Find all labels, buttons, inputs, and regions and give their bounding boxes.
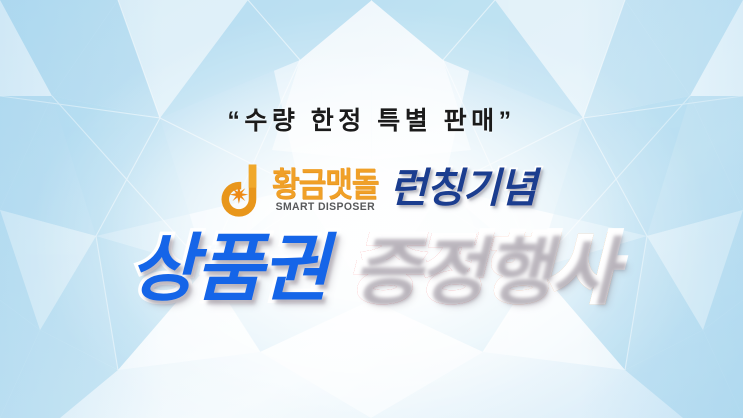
banner-content: “수량 한정 특별 판매” 황금맷돌 SMART DISPOSER xyxy=(0,0,743,418)
tagline: “수량 한정 특별 판매” xyxy=(0,101,743,137)
launch-commemoration-label: 런칭기념 xyxy=(389,168,536,209)
headline-giveaway-event: 증정행사 xyxy=(349,232,613,306)
headline: 상품권 증정행사 xyxy=(0,232,743,306)
brand-wordmark: 황금맷돌 SMART DISPOSER xyxy=(272,171,378,213)
brand-name-korean: 황금맷돌 xyxy=(272,169,378,203)
brand-logo-lockup: 황금맷돌 SMART DISPOSER xyxy=(207,161,378,219)
promotional-banner: “수량 한정 특별 판매” 황금맷돌 SMART DISPOSER xyxy=(0,0,743,418)
brand-name-english: SMART DISPOSER xyxy=(275,202,374,213)
brand-row: 황금맷돌 SMART DISPOSER 런칭기념 xyxy=(0,152,743,228)
golden-disposer-d-mark-icon xyxy=(207,161,265,219)
headline-gift-voucher: 상품권 xyxy=(129,232,327,306)
